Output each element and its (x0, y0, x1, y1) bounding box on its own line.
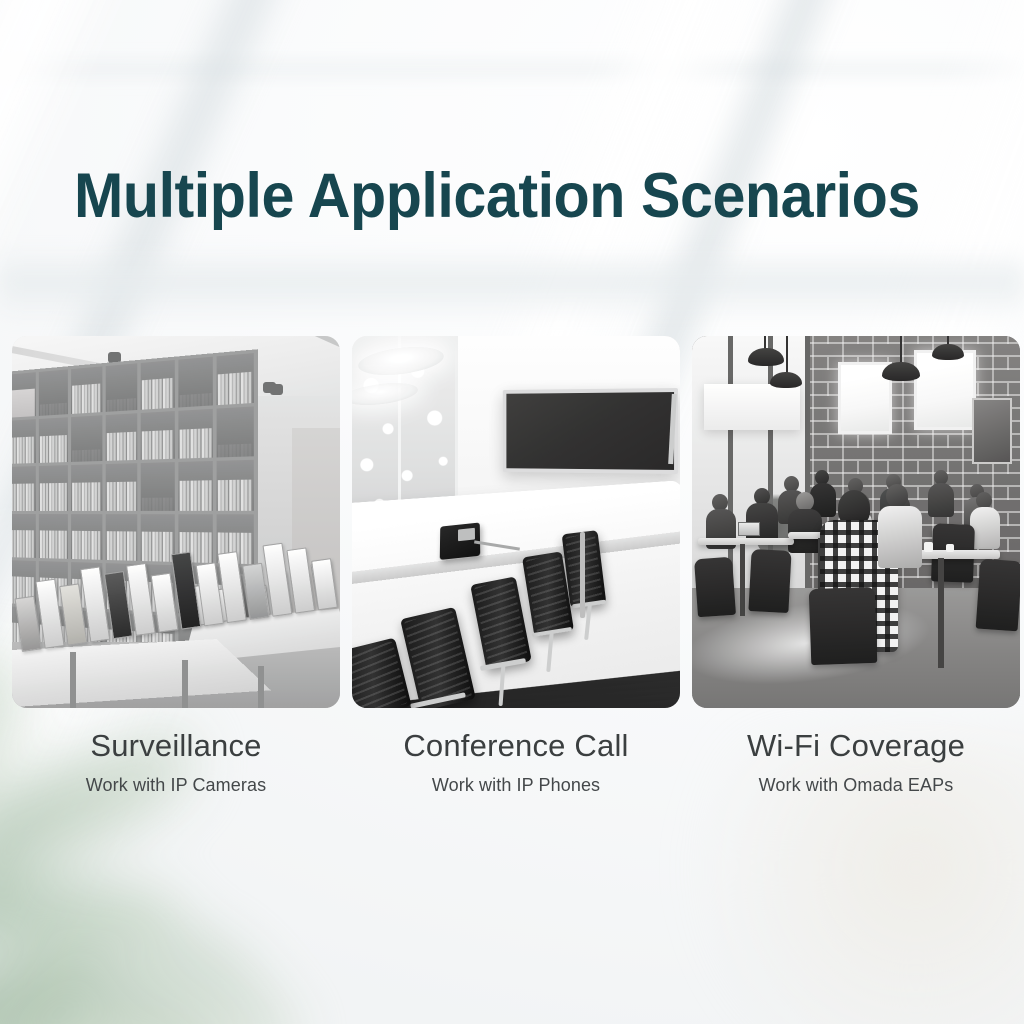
caption-title: Wi-Fi Coverage (692, 730, 1020, 763)
page-title: Multiple Application Scenarios (74, 164, 920, 228)
laptop (738, 522, 760, 536)
pendant-lamp-icon (770, 372, 802, 388)
caption-conference-call: Conference Call Work with IP Phones (352, 708, 680, 796)
coffee-cup (924, 542, 933, 552)
window (914, 350, 976, 430)
library-bookstore-interior-photo (12, 336, 340, 708)
chair (694, 557, 736, 618)
scenario-card-conference-call[interactable]: Conference Call Work with IP Phones (352, 336, 680, 796)
large-lamp-shade (704, 384, 800, 430)
caption-title: Conference Call (352, 730, 680, 763)
wall-mounted-tv (503, 388, 678, 474)
scenario-card-wifi-coverage[interactable]: Wi-Fi Coverage Work with Omada EAPs (692, 336, 1020, 796)
pendant-lamp-icon (932, 344, 964, 360)
chair-foreground (809, 587, 878, 665)
conference-room-interior-photo (352, 336, 680, 708)
tv-screen (506, 392, 674, 470)
scenario-card-list: Surveillance Work with IP Cameras (12, 336, 1012, 796)
pendant-lamp-icon (748, 348, 784, 366)
library-scene (12, 336, 340, 708)
cafe-coworking-interior-photo (692, 336, 1020, 708)
cafe-table (698, 538, 794, 545)
caption-surveillance: Surveillance Work with IP Cameras (12, 708, 340, 796)
cafe-scene (692, 336, 1020, 708)
pendant-lamp-icon (882, 362, 920, 381)
application-scenarios-page: Multiple Application Scenarios (0, 0, 1024, 1024)
caption-subtitle: Work with IP Phones (352, 775, 680, 796)
chair (748, 549, 791, 613)
wall-picture (972, 398, 1012, 464)
caption-subtitle: Work with IP Cameras (12, 775, 340, 796)
conference-room-scene (352, 336, 680, 708)
chair (976, 559, 1020, 632)
scenario-card-surveillance[interactable]: Surveillance Work with IP Cameras (12, 336, 340, 796)
caption-title: Surveillance (12, 730, 340, 763)
caption-wifi-coverage: Wi-Fi Coverage Work with Omada EAPs (692, 708, 1020, 796)
spotlight-icon (263, 382, 276, 393)
coffee-cup (946, 544, 954, 552)
caption-subtitle: Work with Omada EAPs (692, 775, 1020, 796)
